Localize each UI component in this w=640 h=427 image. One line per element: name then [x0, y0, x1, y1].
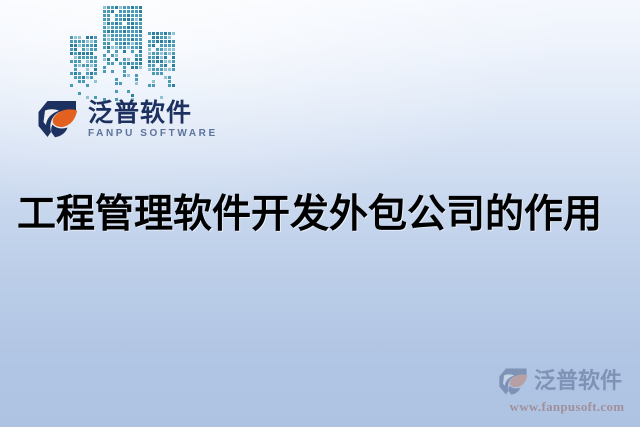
skyline-tower-right: [148, 32, 175, 98]
banner-headline: 工程管理软件开发外包公司的作用: [17, 183, 602, 239]
skyline-tower-left: [70, 36, 97, 98]
promo-banner: 泛普软件 FANPU SOFTWARE 工程管理软件开发外包公司的作用 泛普软件…: [0, 0, 640, 427]
fanpu-logo-mark-watermark-icon: [497, 367, 530, 396]
watermark: 泛普软件 www.fanpusoft.com: [497, 367, 637, 415]
brand-name-cn: 泛普软件: [88, 100, 218, 125]
watermark-url: www.fanpusoft.com: [497, 399, 637, 415]
watermark-brand-name: 泛普软件: [534, 371, 622, 393]
watermark-logo-row: 泛普软件: [497, 367, 637, 396]
brand-name-en: FANPU SOFTWARE: [88, 129, 218, 139]
brand-wordmark: 泛普软件 FANPU SOFTWARE: [88, 100, 218, 139]
pixel-skyline-graphic: [70, 6, 175, 98]
brand-logo: 泛普软件 FANPU SOFTWARE: [36, 99, 218, 139]
fanpu-logo-mark-icon: [36, 99, 80, 139]
skyline-tower-middle: [103, 6, 142, 98]
